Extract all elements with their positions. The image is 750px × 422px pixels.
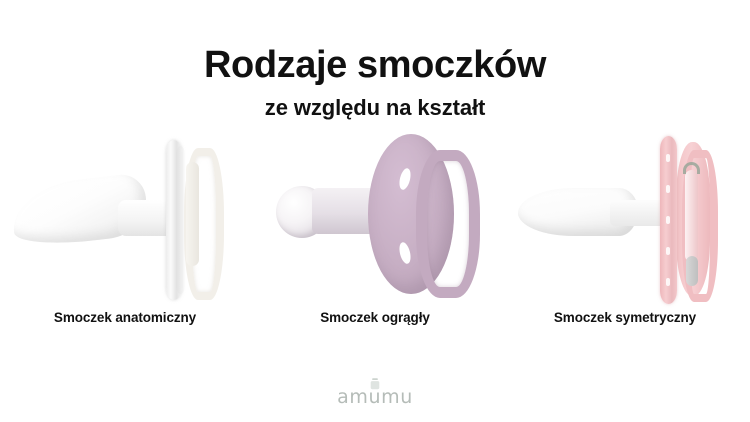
pacifier-tip-icon	[686, 256, 698, 286]
pacifier-shield-vents-icon	[666, 154, 671, 286]
pacifier-item-round: Smoczek ogrągły	[250, 128, 500, 358]
pacifier-image-anatomical	[0, 128, 250, 310]
pacifier-items-row: Smoczek anatomiczny Smoczek ogrągły	[0, 128, 750, 358]
brand-logo: amumu	[0, 386, 750, 408]
pacifier-caption-round: Smoczek ogrągły	[320, 310, 430, 325]
pacifier-caption-anatomical: Smoczek anatomiczny	[54, 310, 196, 325]
pacifier-item-anatomical: Smoczek anatomiczny	[0, 128, 250, 358]
pacifier-image-symmetric	[500, 128, 750, 310]
pacifier-item-symmetric: Smoczek symetryczny	[500, 128, 750, 358]
pacifier-ring-icon	[416, 150, 480, 298]
infographic-canvas: Rodzaje smoczków ze względu na kształt S…	[0, 0, 750, 422]
page-title: Rodzaje smoczków	[0, 45, 750, 87]
rainbow-icon	[683, 162, 700, 174]
page-subtitle: ze względu na kształt	[0, 96, 750, 120]
pacifier-image-round	[250, 128, 500, 310]
pacifier-icon	[369, 377, 381, 390]
pacifier-knob-icon	[685, 170, 698, 262]
pacifier-knob-icon	[186, 162, 199, 266]
pacifier-caption-symmetric: Smoczek symetryczny	[554, 310, 696, 325]
